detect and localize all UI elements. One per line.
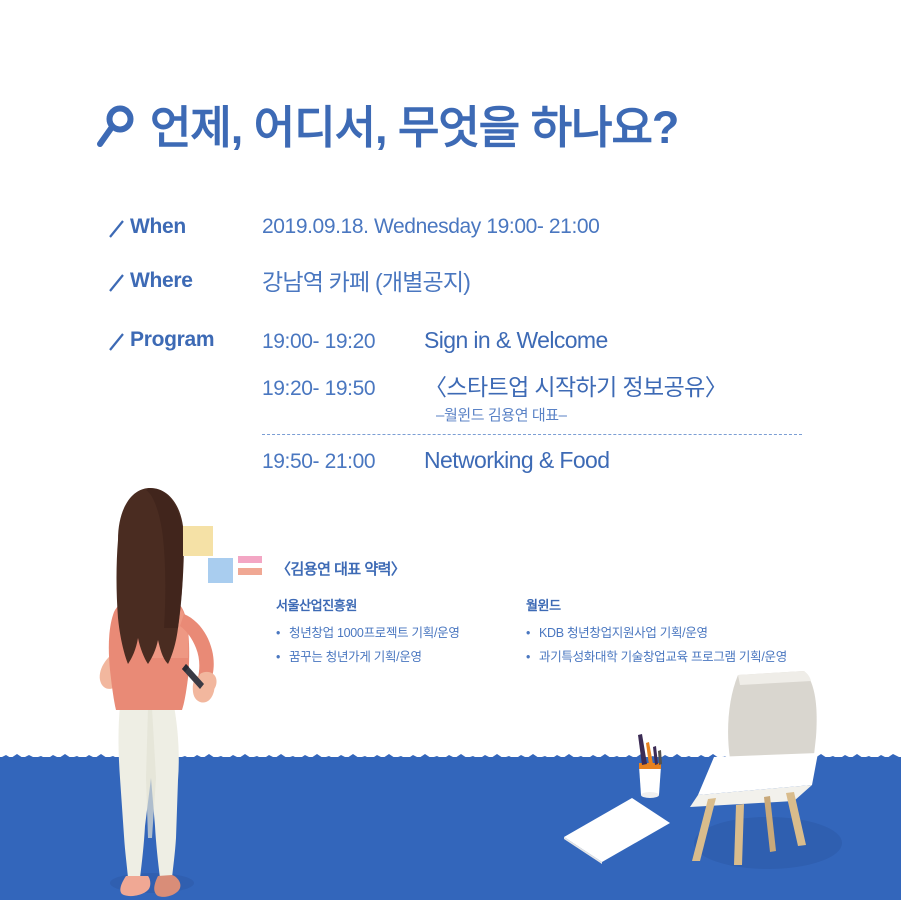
detail-value-where: 강남역 카페 (개별공지) [262, 268, 470, 297]
program-time: 19:50- 21:00 [262, 450, 424, 474]
page-header: 언제, 어디서, 무엇을 하나요? [96, 104, 678, 150]
detail-label-when: When [130, 214, 262, 240]
program-time: 19:20- 19:50 [262, 377, 424, 401]
speaker-bio-section: 〈김용연 대표 약력〉 서울산업진흥원 청년창업 1000프로젝트 기획/운영 … [276, 558, 856, 670]
bio-column-wolwind: 월윈드 KDB 청년창업지원사업 기획/운영 과기특성화대학 기술창업교육 프로… [526, 595, 856, 670]
program-divider [262, 434, 802, 435]
sticky-notes-illustration [160, 520, 265, 590]
program-description: 〈스타트업 시작하기 정보공유〉 [424, 368, 727, 402]
bio-title: 〈김용연 대표 약력〉 [276, 558, 856, 579]
program-item: 19:50- 21:00 Networking & Food [262, 447, 868, 474]
bio-list-item: 꿈꾸는 청년가게 기획/운영 [276, 646, 526, 670]
program-item: 19:00- 19:20 Sign in & Welcome [262, 327, 868, 354]
slash-icon [108, 332, 130, 352]
bio-columns: 서울산업진흥원 청년창업 1000프로젝트 기획/운영 꿈꾸는 청년가게 기획/… [276, 595, 856, 670]
bio-organization: 월윈드 [526, 595, 856, 614]
page-title: 언제, 어디서, 무엇을 하나요? [150, 105, 678, 150]
search-icon [96, 104, 136, 150]
detail-row-program: Program 19:00- 19:20 Sign in & Welcome 1… [108, 327, 868, 474]
slash-icon [108, 219, 130, 239]
program-schedule: 19:00- 19:20 Sign in & Welcome 19:20- 19… [262, 327, 868, 474]
detail-row-when: When 2019.09.18. Wednesday 19:00- 21:00 [108, 214, 868, 240]
program-description: Sign in & Welcome [424, 327, 608, 354]
bio-organization: 서울산업진흥원 [276, 595, 526, 614]
slash-icon [108, 273, 130, 293]
detail-label-program: Program [130, 327, 262, 353]
event-poster: 언제, 어디서, 무엇을 하나요? When 2019.09.18. Wedne… [0, 0, 901, 900]
bio-list-item: 청년창업 1000프로젝트 기획/운영 [276, 622, 526, 646]
program-time: 19:00- 19:20 [262, 330, 424, 354]
bio-column-sba: 서울산업진흥원 청년창업 1000프로젝트 기획/운영 꿈꾸는 청년가게 기획/… [276, 595, 526, 670]
detail-row-where: Where 강남역 카페 (개별공지) [108, 268, 868, 297]
event-details: When 2019.09.18. Wednesday 19:00- 21:00 … [108, 214, 868, 502]
chair-paper-pencil-illustration [550, 665, 901, 900]
bio-list-item: 과기특성화대학 기술창업교육 프로그램 기획/운영 [526, 646, 856, 670]
bio-list: 청년창업 1000프로젝트 기획/운영 꿈꾸는 청년가게 기획/운영 [276, 622, 526, 670]
program-speaker: –월윈드 김용연 대표– [436, 404, 868, 425]
detail-label-where: Where [130, 268, 262, 294]
program-description: Networking & Food [424, 447, 609, 474]
detail-value-when: 2019.09.18. Wednesday 19:00- 21:00 [262, 214, 599, 240]
bio-list: KDB 청년창업지원사업 기획/운영 과기특성화대학 기술창업교육 프로그램 기… [526, 622, 856, 670]
program-item: 19:20- 19:50 〈스타트업 시작하기 정보공유〉 [262, 368, 868, 402]
bio-list-item: KDB 청년창업지원사업 기획/운영 [526, 622, 856, 646]
